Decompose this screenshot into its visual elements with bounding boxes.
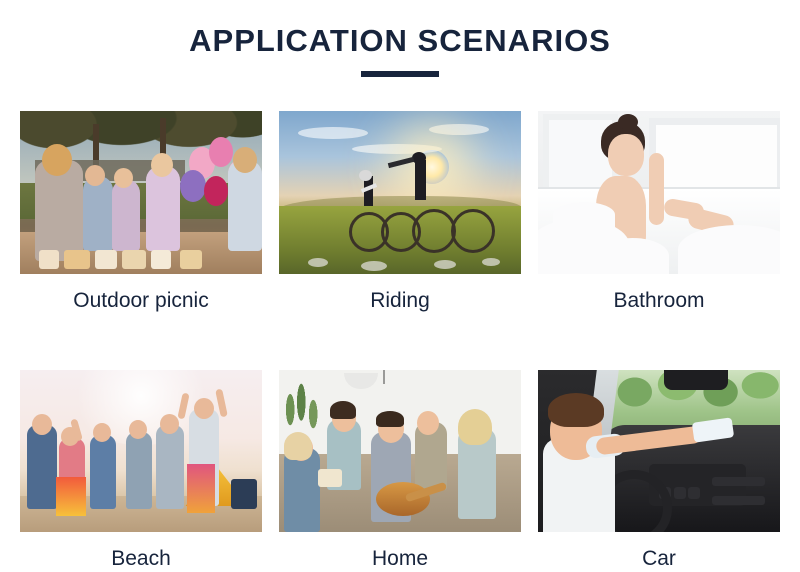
beach-illustration	[20, 370, 262, 532]
riding-illustration	[279, 111, 521, 274]
scenario-label-car: Car	[538, 532, 780, 572]
scenario-thumbnail-outdoor-picnic[interactable]	[20, 111, 262, 274]
bathroom-illustration	[538, 111, 780, 274]
scenario-card-home[interactable]: Home	[279, 370, 521, 572]
scenario-label-riding: Riding	[279, 274, 521, 314]
scenario-label-home: Home	[279, 532, 521, 572]
scenario-grid: Outdoor picnic	[20, 111, 780, 572]
home-illustration	[279, 370, 521, 532]
scenario-thumbnail-riding[interactable]	[279, 111, 521, 274]
scenario-label-outdoor-picnic: Outdoor picnic	[20, 274, 262, 314]
car-illustration	[538, 370, 780, 532]
application-scenarios-page: APPLICATION SCENARIOS	[0, 0, 800, 553]
scenario-thumbnail-beach[interactable]	[20, 370, 262, 532]
title-underline-rule	[361, 71, 439, 77]
scenario-card-beach[interactable]: Beach	[20, 370, 262, 572]
scenario-label-beach: Beach	[20, 532, 262, 572]
scenario-card-riding[interactable]: Riding	[279, 111, 521, 314]
page-header: APPLICATION SCENARIOS	[0, 22, 800, 77]
scenario-thumbnail-car[interactable]	[538, 370, 780, 532]
scenario-label-bathroom: Bathroom	[538, 274, 780, 314]
scenario-thumbnail-home[interactable]	[279, 370, 521, 532]
page-title: APPLICATION SCENARIOS	[0, 22, 800, 60]
picnic-illustration	[20, 111, 262, 274]
scenario-card-bathroom[interactable]: Bathroom	[538, 111, 780, 314]
scenario-thumbnail-bathroom[interactable]	[538, 111, 780, 274]
scenario-card-outdoor-picnic[interactable]: Outdoor picnic	[20, 111, 262, 314]
scenario-card-car[interactable]: Car	[538, 370, 780, 572]
